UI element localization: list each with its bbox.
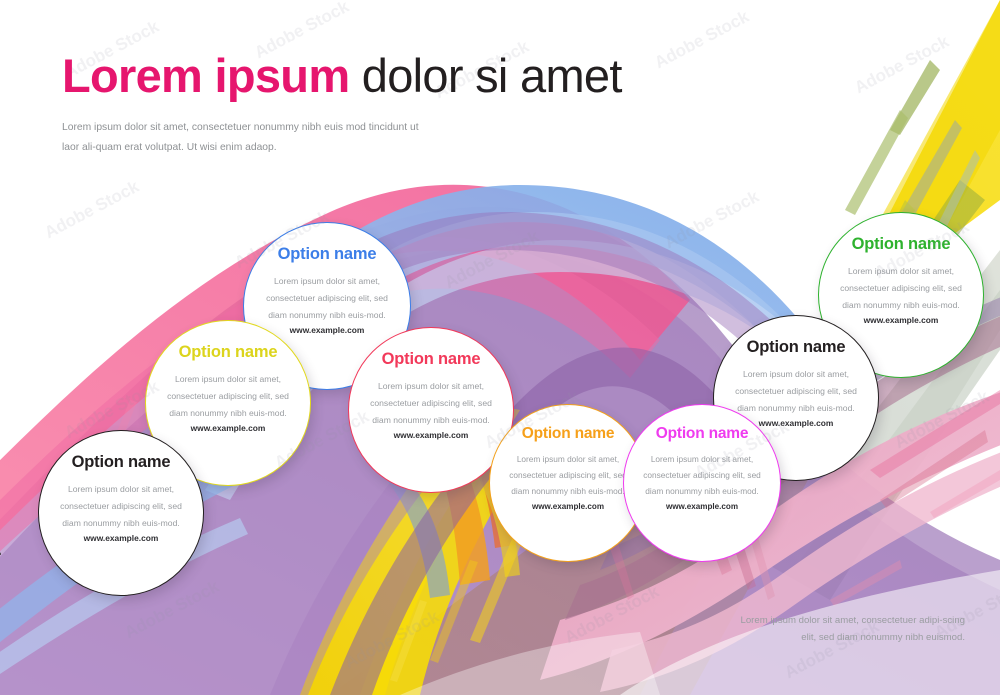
footer-text: Lorem ipsum dolor sit amet, consectetuer… [733,613,965,647]
option-url[interactable]: www.example.com [759,418,834,428]
option-title: Option name [278,245,377,264]
option-title: Option name [656,425,749,443]
option-title: Option name [522,425,615,443]
option-title: Option name [382,350,481,369]
page-subtitle: Lorem ipsum dolor sit amet, consectetuer… [62,118,434,158]
option-url[interactable]: www.example.com [864,315,939,325]
option-url[interactable]: www.example.com [394,430,469,440]
option-circle-magenta[interactable]: Option name Lorem ipsum dolor sit amet, … [623,404,781,562]
option-body: Lorem ipsum dolor sit amet, consectetuer… [57,481,185,531]
option-body: Lorem ipsum dolor sit amet, consectetuer… [367,378,495,428]
option-url[interactable]: www.example.com [191,423,266,433]
option-title: Option name [747,338,846,357]
infographic-canvas: Adobe Stock Adobe Stock Adobe Stock Adob… [0,0,1000,695]
option-url[interactable]: www.example.com [84,533,159,543]
option-body: Lorem ipsum dolor sit amet, consectetuer… [164,371,292,421]
page-title: Lorem ipsum dolor si amet [62,52,702,101]
option-circle-black-left[interactable]: Option name Lorem ipsum dolor sit amet, … [38,430,204,596]
option-body: Lorem ipsum dolor sit amet, consectetuer… [507,451,629,500]
watermark-left-strip: Adobe Stock | #253828674 [0,444,2,673]
option-url[interactable]: www.example.com [532,502,604,511]
option-title: Option name [179,343,278,362]
option-body: Lorem ipsum dolor sit amet, consectetuer… [732,366,860,416]
page-title-strong: Lorem ipsum [62,49,349,102]
option-title: Option name [72,453,171,472]
option-body: Lorem ipsum dolor sit amet, consectetuer… [641,451,763,500]
option-title: Option name [852,235,951,254]
option-url[interactable]: www.example.com [666,502,738,511]
option-body: Lorem ipsum dolor sit amet, consectetuer… [837,263,965,313]
page-title-light: dolor si amet [349,49,621,102]
option-url[interactable]: www.example.com [290,325,365,335]
header: Lorem ipsum dolor si amet Lorem ipsum do… [62,52,702,158]
option-body: Lorem ipsum dolor sit amet, consectetuer… [263,273,391,323]
option-circle-red[interactable]: Option name Lorem ipsum dolor sit amet, … [348,327,514,493]
